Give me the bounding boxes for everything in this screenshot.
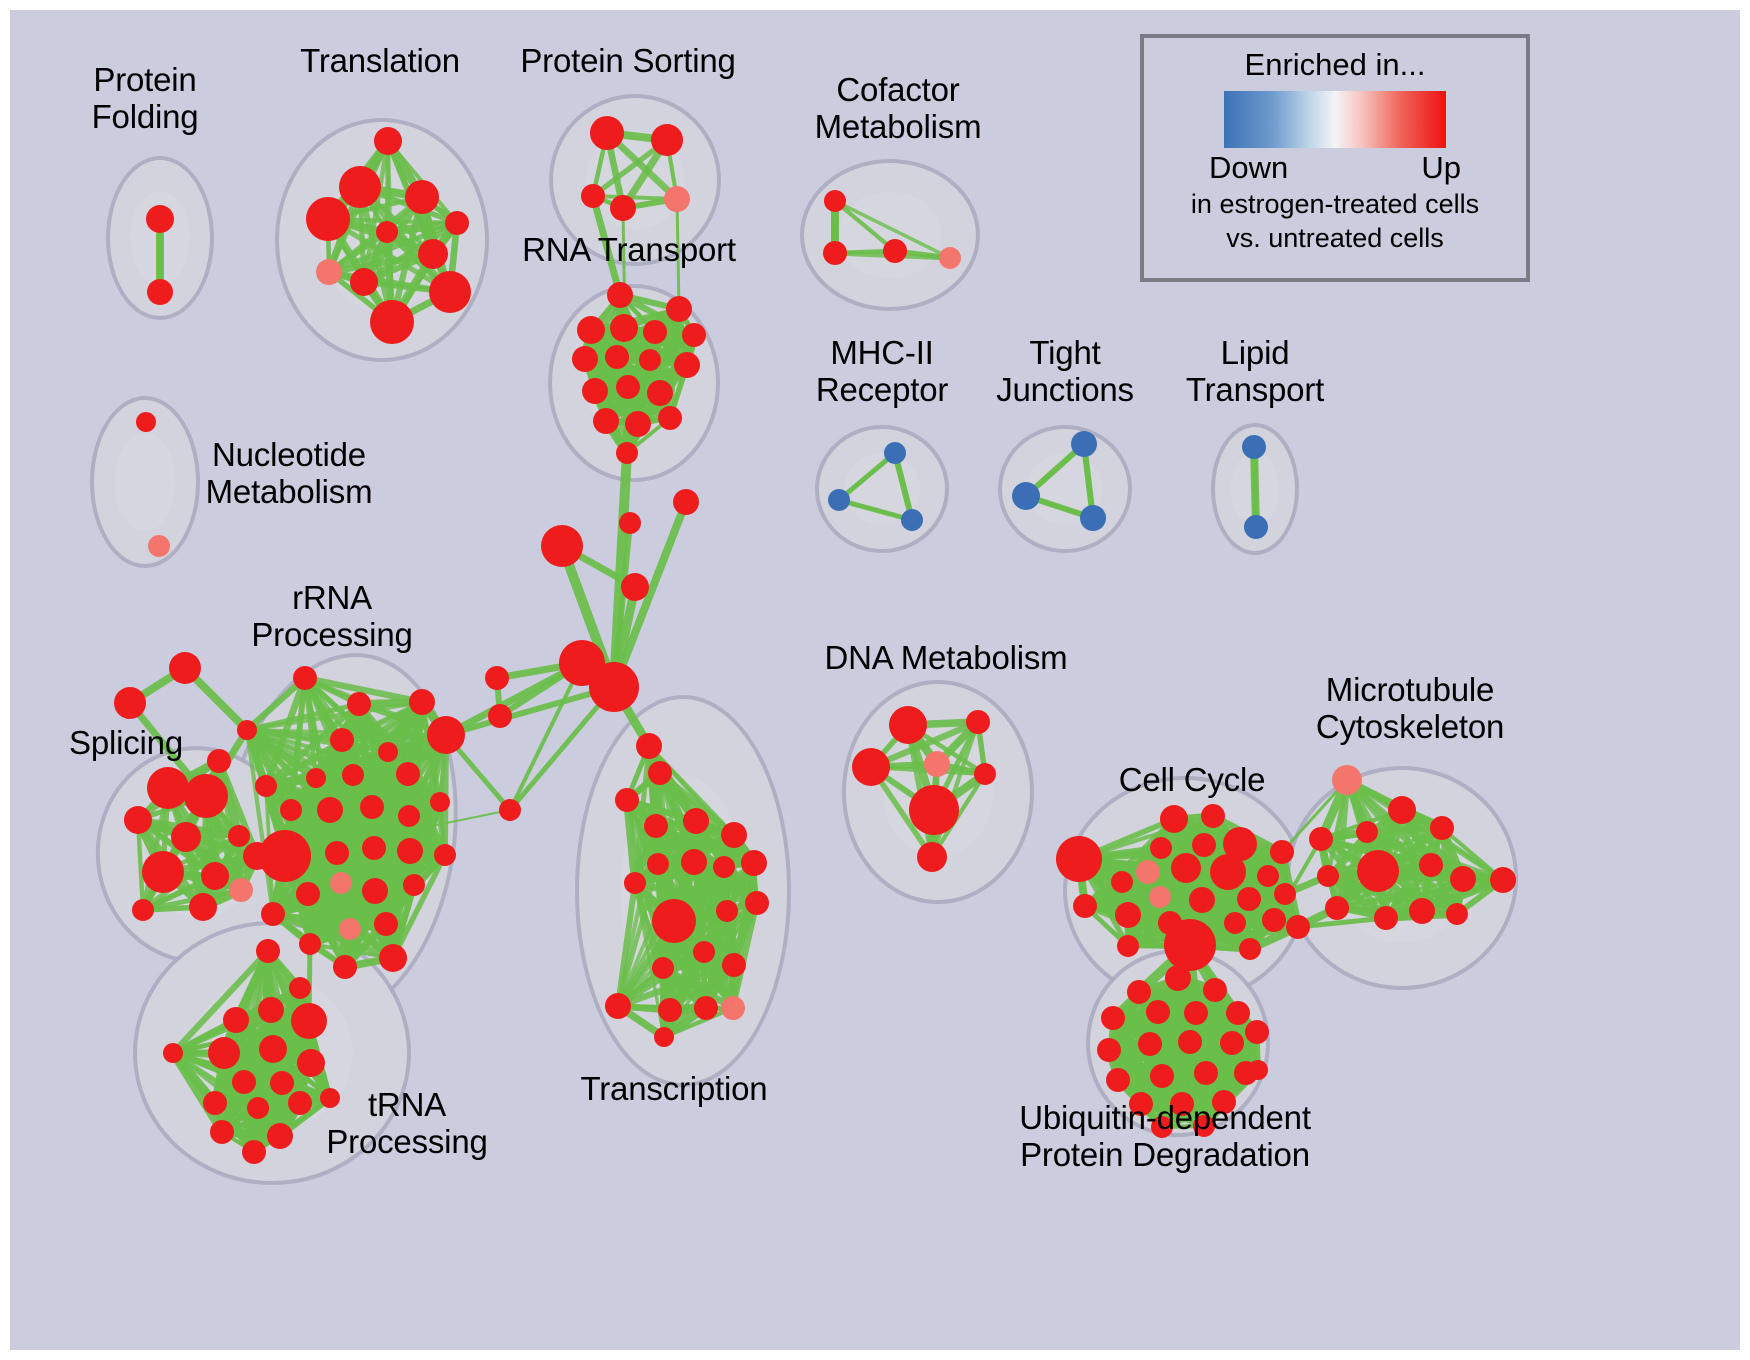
- network-node[interactable]: [1184, 1001, 1208, 1025]
- network-node[interactable]: [616, 442, 638, 464]
- network-node[interactable]: [1374, 906, 1398, 930]
- network-node[interactable]: [616, 375, 640, 399]
- network-node[interactable]: [1080, 505, 1106, 531]
- network-node[interactable]: [610, 195, 636, 221]
- network-node[interactable]: [258, 997, 284, 1023]
- network-node[interactable]: [722, 953, 746, 977]
- cluster-label-cell-cycle: Cell Cycle: [1119, 762, 1266, 799]
- network-node[interactable]: [1149, 886, 1171, 908]
- network-node[interactable]: [342, 764, 364, 786]
- network-node[interactable]: [909, 785, 959, 835]
- network-node[interactable]: [572, 346, 598, 372]
- network-node[interactable]: [1317, 865, 1339, 887]
- network-node[interactable]: [398, 805, 420, 827]
- network-node[interactable]: [378, 742, 398, 762]
- network-node[interactable]: [582, 378, 608, 404]
- network-node[interactable]: [1160, 805, 1188, 833]
- network-node[interactable]: [499, 799, 521, 821]
- network-node[interactable]: [1178, 1030, 1202, 1054]
- network-node[interactable]: [1224, 912, 1246, 934]
- network-node[interactable]: [694, 996, 718, 1020]
- network-node[interactable]: [639, 349, 661, 371]
- network-node[interactable]: [171, 822, 201, 852]
- network-node[interactable]: [721, 996, 745, 1020]
- network-node[interactable]: [396, 762, 420, 786]
- cluster-label-splicing: Splicing: [69, 725, 183, 762]
- network-node[interactable]: [1388, 796, 1416, 824]
- network-node[interactable]: [201, 862, 229, 890]
- network-node[interactable]: [232, 1070, 256, 1094]
- network-node[interactable]: [624, 872, 646, 894]
- network-node[interactable]: [163, 1043, 183, 1063]
- network-node[interactable]: [1248, 1060, 1268, 1080]
- legend-title: Enriched in...: [1245, 47, 1426, 83]
- network-node[interactable]: [316, 259, 342, 285]
- network-node[interactable]: [1192, 833, 1216, 857]
- network-node[interactable]: [242, 1140, 266, 1164]
- network-node[interactable]: [607, 282, 633, 308]
- network-node[interactable]: [619, 512, 641, 534]
- network-node[interactable]: [1073, 894, 1097, 918]
- network-node[interactable]: [114, 687, 146, 719]
- cluster-label-rna-transport: RNA Transport: [522, 232, 736, 269]
- network-node[interactable]: [228, 825, 250, 847]
- network-node[interactable]: [210, 1120, 234, 1144]
- network-node[interactable]: [581, 184, 605, 208]
- network-node[interactable]: [259, 1035, 287, 1063]
- cluster-label-nucleotide-metabolism: Nucleotide Metabolism: [206, 437, 373, 511]
- network-node[interactable]: [1097, 1038, 1121, 1062]
- network-node[interactable]: [362, 878, 388, 904]
- cluster-label-protein-sorting: Protein Sorting: [520, 43, 735, 80]
- network-node[interactable]: [625, 411, 651, 437]
- network-node[interactable]: [247, 1097, 269, 1119]
- network-node[interactable]: [1270, 840, 1294, 864]
- network-node[interactable]: [1127, 980, 1151, 1004]
- network-node[interactable]: [288, 1091, 312, 1115]
- network-node[interactable]: [644, 814, 668, 838]
- network-node[interactable]: [1262, 908, 1286, 932]
- network-node[interactable]: [1226, 1001, 1250, 1025]
- network-node[interactable]: [299, 933, 321, 955]
- network-node[interactable]: [651, 124, 683, 156]
- network-node[interactable]: [146, 205, 174, 233]
- network-node[interactable]: [409, 689, 435, 715]
- network-node[interactable]: [605, 345, 629, 369]
- network-node[interactable]: [1165, 965, 1191, 991]
- network-node[interactable]: [488, 704, 512, 728]
- network-node[interactable]: [229, 878, 253, 902]
- network-node[interactable]: [1274, 883, 1296, 905]
- network-node[interactable]: [330, 728, 354, 752]
- network-node[interactable]: [654, 1027, 674, 1047]
- network-node[interactable]: [939, 247, 961, 269]
- network-node[interactable]: [577, 316, 605, 344]
- network-node[interactable]: [267, 1123, 293, 1149]
- network-node[interactable]: [901, 509, 923, 531]
- legend-colorbar: [1224, 91, 1446, 148]
- network-node[interactable]: [291, 1003, 327, 1039]
- network-node[interactable]: [828, 489, 850, 511]
- network-node[interactable]: [1117, 935, 1139, 957]
- network-node[interactable]: [374, 912, 398, 936]
- network-node[interactable]: [124, 806, 152, 834]
- network-node[interactable]: [485, 666, 509, 690]
- cluster-label-dna-metabolism: DNA Metabolism: [825, 640, 1068, 677]
- network-node[interactable]: [673, 489, 699, 515]
- network-node[interactable]: [397, 838, 423, 864]
- network-node[interactable]: [429, 271, 471, 313]
- network-node[interactable]: [374, 127, 402, 155]
- edge: [1254, 447, 1256, 527]
- network-node[interactable]: [589, 662, 639, 712]
- network-node[interactable]: [593, 408, 619, 434]
- network-node[interactable]: [418, 239, 448, 269]
- network-node[interactable]: [647, 853, 669, 875]
- network-node[interactable]: [1239, 938, 1261, 960]
- network-node[interactable]: [1194, 1061, 1218, 1085]
- network-node[interactable]: [1242, 435, 1266, 459]
- network-node[interactable]: [403, 874, 425, 896]
- network-node[interactable]: [347, 692, 371, 716]
- network-node[interactable]: [1286, 915, 1310, 939]
- network-node[interactable]: [652, 957, 674, 979]
- network-node[interactable]: [883, 239, 907, 263]
- network-node[interactable]: [1325, 896, 1349, 920]
- network-node[interactable]: [721, 822, 747, 848]
- network-node[interactable]: [1332, 765, 1362, 795]
- network-node[interactable]: [370, 300, 414, 344]
- network-node[interactable]: [297, 1049, 325, 1077]
- network-node[interactable]: [147, 767, 189, 809]
- network-node[interactable]: [147, 279, 173, 305]
- enrichment-map-figure: Enriched in... Down Up in estrogen-treat…: [10, 10, 1740, 1350]
- network-node[interactable]: [142, 851, 184, 893]
- network-node[interactable]: [1071, 431, 1097, 457]
- network-node[interactable]: [1106, 1068, 1130, 1092]
- network-node[interactable]: [333, 955, 357, 979]
- network-node[interactable]: [1012, 482, 1040, 510]
- network-node[interactable]: [1409, 898, 1435, 924]
- network-node[interactable]: [666, 296, 692, 322]
- cluster-inner-cofactor-metabolism: [838, 192, 941, 278]
- network-node[interactable]: [745, 891, 769, 915]
- network-node[interactable]: [317, 797, 343, 823]
- network-node[interactable]: [682, 323, 706, 347]
- network-node[interactable]: [884, 442, 906, 464]
- legend-high-label: Up: [1421, 150, 1461, 186]
- network-node[interactable]: [1150, 837, 1172, 859]
- network-node[interactable]: [379, 944, 407, 972]
- network-node[interactable]: [1150, 1064, 1174, 1088]
- network-node[interactable]: [852, 748, 890, 786]
- network-node[interactable]: [223, 1007, 249, 1033]
- network-node[interactable]: [256, 939, 280, 963]
- network-node[interactable]: [1136, 860, 1160, 884]
- network-node[interactable]: [693, 941, 715, 963]
- network-node[interactable]: [330, 872, 352, 894]
- cluster-label-ubiquitin-degradation: Ubiquitin-dependent Protein Degradation: [1019, 1100, 1311, 1174]
- network-node[interactable]: [648, 761, 672, 785]
- network-node[interactable]: [674, 352, 700, 378]
- network-node[interactable]: [1220, 1031, 1244, 1055]
- network-node[interactable]: [590, 116, 624, 150]
- cluster-label-microtubule-cytoskeleton: Microtubule Cytoskeleton: [1316, 672, 1504, 746]
- network-node[interactable]: [445, 211, 469, 235]
- network-node[interactable]: [681, 849, 707, 875]
- network-node[interactable]: [306, 768, 326, 788]
- network-node[interactable]: [289, 977, 311, 999]
- network-node[interactable]: [1430, 816, 1454, 840]
- legend-endpoints: Down Up: [1209, 150, 1461, 186]
- network-node[interactable]: [237, 720, 257, 740]
- cluster-label-cofactor-metabolism: Cofactor Metabolism: [815, 72, 982, 146]
- network-node[interactable]: [643, 320, 667, 344]
- network-node[interactable]: [1419, 853, 1443, 877]
- cluster-label-lipid-transport: Lipid Transport: [1186, 335, 1324, 409]
- network-node[interactable]: [823, 241, 847, 265]
- network-node[interactable]: [1237, 887, 1261, 911]
- network-node[interactable]: [189, 893, 217, 921]
- network-node[interactable]: [1201, 804, 1225, 828]
- legend-box: Enriched in... Down Up in estrogen-treat…: [1140, 34, 1530, 282]
- network-node[interactable]: [405, 180, 439, 214]
- network-node[interactable]: [434, 844, 456, 866]
- network-node[interactable]: [427, 716, 465, 754]
- network-node[interactable]: [974, 763, 996, 785]
- network-node[interactable]: [716, 900, 738, 922]
- network-node[interactable]: [713, 856, 735, 878]
- network-node[interactable]: [917, 842, 947, 872]
- network-node[interactable]: [824, 190, 846, 212]
- network-node[interactable]: [325, 841, 349, 865]
- network-node[interactable]: [683, 808, 709, 834]
- network-node[interactable]: [1056, 836, 1102, 882]
- cluster-label-protein-folding: Protein Folding: [92, 62, 199, 136]
- network-node[interactable]: [280, 799, 302, 821]
- network-node[interactable]: [169, 652, 201, 684]
- network-node[interactable]: [1189, 887, 1215, 913]
- network-node[interactable]: [664, 186, 690, 212]
- network-node[interactable]: [1357, 850, 1399, 892]
- cluster-inner-nucleotide-metabolism: [114, 433, 175, 531]
- legend-subtitle-line2: vs. untreated cells: [1226, 223, 1444, 254]
- cluster-label-tight-junctions: Tight Junctions: [996, 335, 1134, 409]
- network-node[interactable]: [966, 710, 990, 734]
- network-node[interactable]: [203, 1091, 227, 1115]
- network-node[interactable]: [306, 197, 350, 241]
- network-node[interactable]: [1450, 866, 1476, 892]
- network-node[interactable]: [293, 666, 317, 690]
- network-node[interactable]: [652, 899, 696, 943]
- network-node[interactable]: [1446, 903, 1468, 925]
- cluster-label-mhc-ii-receptor: MHC-II Receptor: [816, 335, 948, 409]
- network-node[interactable]: [350, 268, 378, 296]
- legend-low-label: Down: [1209, 150, 1288, 186]
- network-node[interactable]: [658, 998, 682, 1022]
- network-node[interactable]: [1138, 1032, 1162, 1056]
- network-node[interactable]: [924, 751, 950, 777]
- network-node[interactable]: [741, 850, 767, 876]
- network-node[interactable]: [339, 918, 361, 940]
- network-node[interactable]: [270, 1071, 294, 1095]
- network-node[interactable]: [1490, 867, 1516, 893]
- cluster-label-trna-processing: tRNA Processing: [326, 1087, 487, 1161]
- network-node[interactable]: [1171, 853, 1201, 883]
- network-node[interactable]: [1356, 821, 1378, 843]
- network-node[interactable]: [1245, 1020, 1269, 1044]
- network-node[interactable]: [636, 733, 662, 759]
- network-node[interactable]: [296, 882, 320, 906]
- network-node[interactable]: [1309, 827, 1333, 851]
- cluster-label-transcription: Transcription: [581, 1071, 768, 1108]
- network-node[interactable]: [261, 902, 285, 926]
- network-node[interactable]: [1164, 919, 1216, 971]
- network-node[interactable]: [1203, 978, 1227, 1002]
- network-node[interactable]: [339, 166, 381, 208]
- network-node[interactable]: [255, 775, 277, 797]
- network-node[interactable]: [430, 792, 450, 812]
- network-node[interactable]: [1210, 854, 1246, 890]
- network-node[interactable]: [615, 788, 639, 812]
- network-node[interactable]: [148, 535, 170, 557]
- cluster-label-rrna-processing: rRNA Processing: [251, 580, 412, 654]
- legend-subtitle-line1: in estrogen-treated cells: [1191, 189, 1479, 220]
- network-node[interactable]: [360, 795, 384, 819]
- network-node[interactable]: [362, 836, 386, 860]
- network-node[interactable]: [207, 749, 231, 773]
- network-node[interactable]: [1257, 865, 1279, 887]
- network-node[interactable]: [208, 1037, 240, 1069]
- network-node[interactable]: [376, 221, 398, 243]
- network-node[interactable]: [1146, 1000, 1170, 1024]
- network-node[interactable]: [889, 706, 927, 744]
- network-node[interactable]: [1115, 902, 1141, 928]
- network-node[interactable]: [136, 412, 156, 432]
- network-node[interactable]: [132, 899, 154, 921]
- network-node[interactable]: [658, 406, 682, 430]
- network-node[interactable]: [1101, 1006, 1125, 1030]
- network-node[interactable]: [605, 993, 631, 1019]
- cluster-label-translation: Translation: [300, 43, 460, 80]
- network-node[interactable]: [541, 525, 583, 567]
- network-node[interactable]: [647, 380, 673, 406]
- network-node[interactable]: [1244, 515, 1268, 539]
- network-node[interactable]: [259, 830, 311, 882]
- network-node[interactable]: [1111, 871, 1133, 893]
- network-node[interactable]: [184, 774, 228, 818]
- network-node[interactable]: [621, 573, 649, 601]
- network-node[interactable]: [610, 314, 638, 342]
